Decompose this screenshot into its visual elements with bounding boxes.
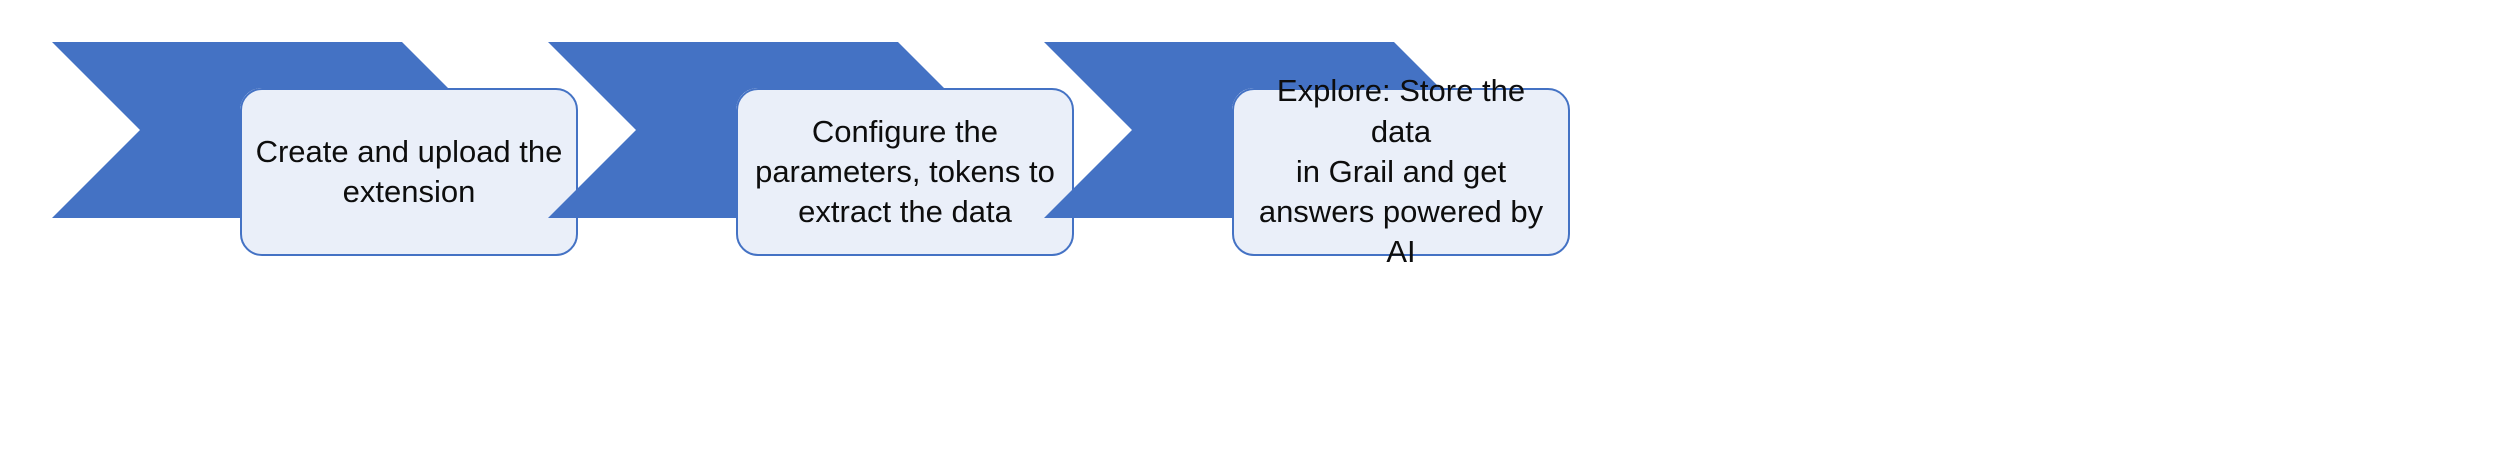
card-step-1-label: Create and upload the extension bbox=[240, 88, 578, 256]
process-diagram-canvas: Create and upload the extension Configur… bbox=[0, 0, 2499, 460]
card-step-2-label: Configure the parameters, tokens to extr… bbox=[736, 88, 1074, 256]
card-step-3-label: Explore: Store the data in Grail and get… bbox=[1232, 88, 1570, 256]
